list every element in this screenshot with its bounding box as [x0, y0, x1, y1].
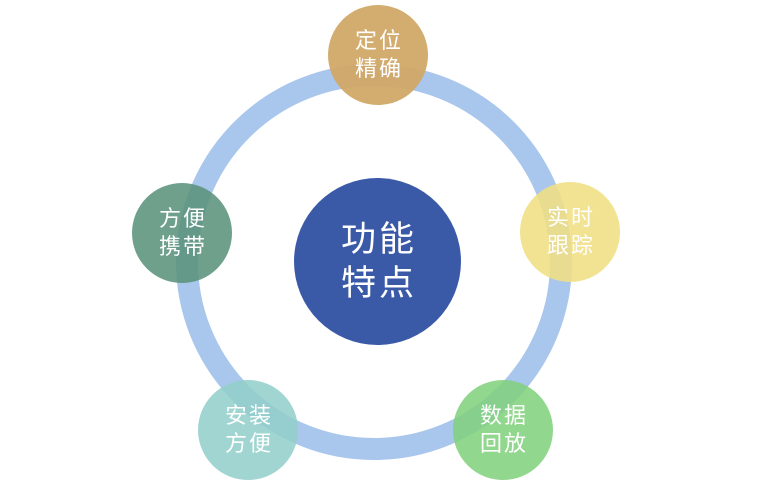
node-left-label-line-2: 携带: [157, 233, 207, 261]
node-bottom-right-label-line-1: 数据: [478, 402, 528, 430]
node-bottom-left-label-line-1: 安装: [223, 402, 273, 430]
hub-label-line-1: 功能: [338, 218, 417, 261]
node-left-label-line-1: 方便: [157, 205, 207, 233]
diagram-canvas: 功能 特点 定位 精确 实时 跟踪 数据 回放 安装 方便 方便 携带: [0, 0, 758, 492]
hub-node-functional-features[interactable]: 功能 特点: [294, 178, 461, 345]
node-bottom-right-label-line-2: 回放: [478, 430, 528, 458]
node-precise-positioning[interactable]: 定位 精确: [328, 5, 428, 105]
node-bottom-left-label-line-2: 方便: [223, 430, 273, 458]
hub-label-line-2: 特点: [338, 262, 417, 305]
node-top-label-line-1: 定位: [353, 27, 403, 55]
node-realtime-tracking[interactable]: 实时 跟踪: [520, 182, 620, 282]
node-easy-installation[interactable]: 安装 方便: [198, 380, 298, 480]
node-right-label-line-1: 实时: [545, 204, 595, 232]
node-easy-to-carry[interactable]: 方便 携带: [132, 183, 232, 283]
node-right-label-line-2: 跟踪: [545, 232, 595, 260]
node-top-label-line-2: 精确: [353, 55, 403, 83]
node-data-playback[interactable]: 数据 回放: [453, 380, 553, 480]
